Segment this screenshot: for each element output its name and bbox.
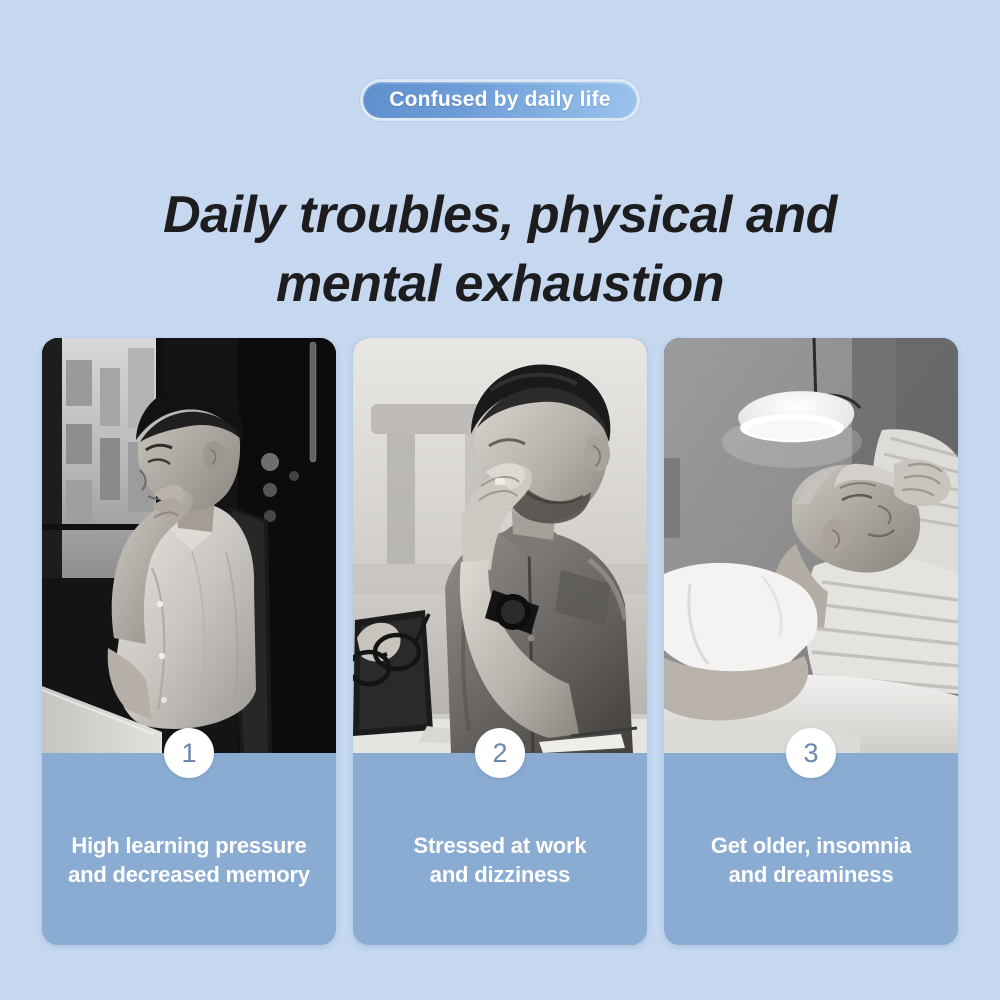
headline-line-1: Daily troubles, physical and xyxy=(0,181,1000,250)
trouble-cards-row: High learning pressure and decreased mem… xyxy=(42,338,958,945)
card-1-photo xyxy=(42,338,336,753)
card-2-number: 2 xyxy=(492,740,507,767)
card-3-photo xyxy=(664,338,958,753)
card-1-number-badge: 1 xyxy=(164,728,214,778)
card-1-caption-band: High learning pressure and decreased mem… xyxy=(42,753,336,945)
card-1-caption-line-2: and decreased memory xyxy=(54,860,324,889)
card-3-caption: Get older, insomnia and dreaminess xyxy=(664,831,958,889)
card-3-caption-band: Get older, insomnia and dreaminess xyxy=(664,753,958,945)
trouble-card-1[interactable]: High learning pressure and decreased mem… xyxy=(42,338,336,945)
confused-by-daily-life-badge: Confused by daily life xyxy=(363,82,636,118)
card-2-caption-line-1: Stressed at work xyxy=(365,831,635,860)
card-3-number-badge: 3 xyxy=(786,728,836,778)
card-3-caption-line-1: Get older, insomnia xyxy=(676,831,946,860)
badge-label: Confused by daily life xyxy=(389,88,610,112)
card-2-caption: Stressed at work and dizziness xyxy=(353,831,647,889)
trouble-card-2[interactable]: Stressed at work and dizziness 2 xyxy=(353,338,647,945)
trouble-card-3[interactable]: Get older, insomnia and dreaminess 3 xyxy=(664,338,958,945)
page-title: Daily troubles, physical and mental exha… xyxy=(0,181,1000,319)
card-2-caption-band: Stressed at work and dizziness xyxy=(353,753,647,945)
card-2-photo xyxy=(353,338,647,753)
card-1-caption-line-1: High learning pressure xyxy=(54,831,324,860)
card-2-number-badge: 2 xyxy=(475,728,525,778)
card-3-number: 3 xyxy=(803,740,818,767)
badge-pill-container: Confused by daily life xyxy=(0,82,1000,118)
card-1-number: 1 xyxy=(181,740,196,767)
card-1-caption: High learning pressure and decreased mem… xyxy=(42,831,336,889)
card-3-caption-line-2: and dreaminess xyxy=(676,860,946,889)
headline-line-2: mental exhaustion xyxy=(0,250,1000,319)
card-2-caption-line-2: and dizziness xyxy=(365,860,635,889)
